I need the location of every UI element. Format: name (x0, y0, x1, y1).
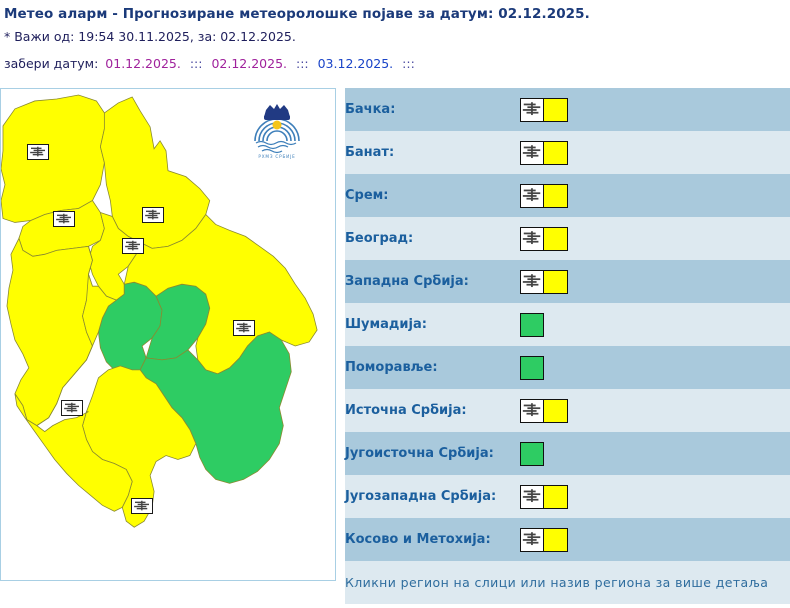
alert-level-yellow (544, 399, 568, 423)
region-spacer-cell (610, 518, 790, 561)
region-spacer-cell (610, 217, 790, 260)
serbia-map-svg[interactable] (1, 89, 335, 580)
date-separator-2: ::: (296, 56, 309, 71)
serbia-alert-map[interactable]: РХМЗ СРБИЈЕ (0, 88, 336, 581)
region-level-cell (520, 475, 610, 518)
table-row[interactable]: Банат: (345, 131, 790, 174)
alert-level-green (520, 313, 544, 337)
region-label-cell[interactable]: Београд: (345, 217, 520, 260)
region-label-cell[interactable]: Бачка: (345, 88, 520, 131)
date-separator-3: ::: (402, 56, 415, 71)
region-label-cell[interactable]: Поморавље: (345, 346, 520, 389)
page-title: Метео аларм - Прогнозиране метеоролошке … (4, 4, 790, 24)
alert-level-yellow (544, 270, 568, 294)
region-spacer-cell (610, 174, 790, 217)
fog-icon (520, 184, 544, 208)
region-label-cell[interactable]: Југозападна Србија: (345, 475, 520, 518)
page-header: Метео аларм - Прогнозиране метеоролошке … (0, 0, 790, 73)
region-spacer-cell (610, 346, 790, 389)
table-row[interactable]: Поморавље: (345, 346, 790, 389)
region-spacer-cell (610, 475, 790, 518)
table-row[interactable]: Источна Србија: (345, 389, 790, 432)
map-marker-zapadna[interactable] (61, 400, 83, 416)
map-marker-srem[interactable] (53, 211, 75, 227)
region-label-cell[interactable]: Источна Србија: (345, 389, 520, 432)
region-link-backa[interactable]: Бачка: (345, 102, 395, 117)
region-label-cell[interactable]: Шумадија: (345, 303, 520, 346)
region-link-kosovo-i-metohija[interactable]: Косово и Метохија: (345, 532, 491, 547)
region-link-jugoistocna-srbija[interactable]: Југоисточна Србија: (345, 446, 494, 461)
map-marker-backa[interactable] (27, 144, 49, 160)
region-level-cell (520, 303, 610, 346)
alert-level-yellow (544, 528, 568, 552)
region-spacer-cell (610, 131, 790, 174)
region-alert-table: Бачка: Банат: (345, 88, 790, 604)
table-footer-row: Кликни регион на слици или назив региона… (345, 561, 790, 604)
svg-text:РХМЗ СРБИЈЕ: РХМЗ СРБИЈЕ (258, 154, 295, 159)
region-spacer-cell (610, 303, 790, 346)
region-link-banat[interactable]: Банат: (345, 145, 394, 160)
date-link-2[interactable]: 02.12.2025. (211, 56, 287, 71)
table-row[interactable]: Косово и Метохија: (345, 518, 790, 561)
fog-icon (520, 141, 544, 165)
fog-icon (520, 528, 544, 552)
region-label-cell[interactable]: Банат: (345, 131, 520, 174)
region-link-pomoravlje[interactable]: Поморавље: (345, 360, 438, 375)
main-content: РХМЗ СРБИЈЕ Бачка: (0, 88, 790, 608)
table-row[interactable]: Шумадија: (345, 303, 790, 346)
panel-gutter (336, 88, 345, 89)
date-link-1[interactable]: 01.12.2025. (105, 56, 181, 71)
table-row[interactable]: Југоисточна Србија: (345, 432, 790, 475)
footer-hint: Кликни регион на слици или назив региона… (345, 561, 790, 604)
table-row[interactable]: Срем: (345, 174, 790, 217)
region-label-cell[interactable]: Срем: (345, 174, 520, 217)
fog-icon (520, 98, 544, 122)
rhmz-logo: РХМЗ СРБИЈЕ (250, 101, 304, 161)
map-marker-istocna[interactable] (233, 320, 255, 336)
region-link-srem[interactable]: Срем: (345, 188, 389, 203)
alert-level-green (520, 356, 544, 380)
region-link-jugozapadna-srbija[interactable]: Југозападна Србија: (345, 489, 496, 504)
region-level-cell (520, 432, 610, 475)
region-level-cell (520, 88, 610, 131)
map-marker-beograd[interactable] (122, 238, 144, 254)
region-label-cell[interactable]: Југоисточна Србија: (345, 432, 520, 475)
region-label-cell[interactable]: Косово и Метохија: (345, 518, 520, 561)
fog-icon (520, 485, 544, 509)
region-label-cell[interactable]: Западна Србија: (345, 260, 520, 303)
table-row[interactable]: Западна Србија: (345, 260, 790, 303)
region-link-sumadija[interactable]: Шумадија: (345, 317, 427, 332)
date-link-3[interactable]: 03.12.2025. (318, 56, 394, 71)
region-level-cell (520, 217, 610, 260)
region-spacer-cell (610, 389, 790, 432)
alert-level-yellow (544, 141, 568, 165)
alert-level-green (520, 442, 544, 466)
region-link-istocna-srbija[interactable]: Источна Србија: (345, 403, 467, 418)
map-region-zapadna (7, 238, 92, 425)
table-row[interactable]: Југозападна Србија: (345, 475, 790, 518)
region-level-cell (520, 346, 610, 389)
region-level-cell (520, 518, 610, 561)
region-spacer-cell (610, 88, 790, 131)
map-marker-jugozapadna[interactable] (131, 498, 153, 514)
date-picker-label: забери датум: (4, 56, 98, 71)
alert-level-yellow (544, 98, 568, 122)
region-spacer-cell (610, 260, 790, 303)
region-level-cell (520, 389, 610, 432)
rhmz-logo-svg: РХМЗ СРБИЈЕ (250, 101, 304, 161)
table-row[interactable]: Бачка: (345, 88, 790, 131)
date-separator-1: ::: (190, 56, 203, 71)
region-spacer-cell (610, 432, 790, 475)
alert-level-yellow (544, 227, 568, 251)
region-link-zapadna-srbija[interactable]: Западна Србија: (345, 274, 469, 289)
region-level-cell (520, 174, 610, 217)
alert-level-yellow (544, 184, 568, 208)
validity-note: * Важи од: 19:54 30.11.2025, за: 02.12.2… (4, 28, 790, 46)
map-marker-banat[interactable] (142, 207, 164, 223)
fog-icon (520, 227, 544, 251)
region-level-cell (520, 260, 610, 303)
fog-icon (520, 399, 544, 423)
region-link-beograd[interactable]: Београд: (345, 231, 413, 246)
region-level-cell (520, 131, 610, 174)
fog-icon (520, 270, 544, 294)
date-picker: забери датум: 01.12.2025. ::: 02.12.2025… (4, 55, 790, 73)
table-row[interactable]: Београд: (345, 217, 790, 260)
alert-level-yellow (544, 485, 568, 509)
